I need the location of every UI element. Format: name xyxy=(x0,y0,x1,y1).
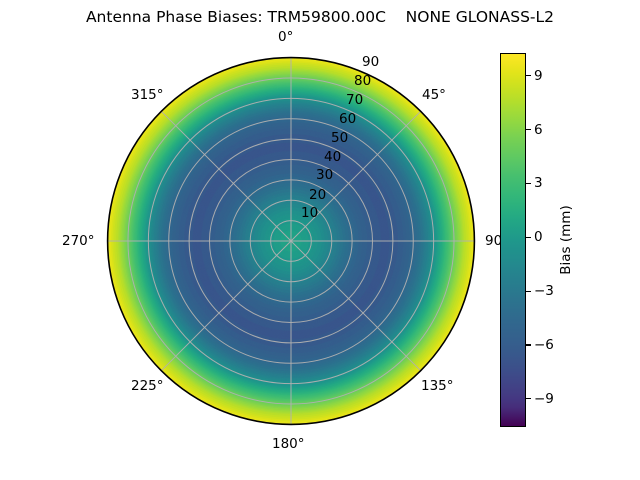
angular-tick-315: 315° xyxy=(131,88,164,102)
colorbar-ticklabel: 3 xyxy=(534,176,543,190)
radial-tick-60: 60 xyxy=(339,112,356,126)
colorbar-tickmark xyxy=(526,237,531,238)
radial-tick-80: 80 xyxy=(354,74,371,88)
colorbar-ticklabel: −6 xyxy=(534,338,554,352)
colorbar-ticklabel: −3 xyxy=(534,284,554,298)
polar-axes xyxy=(106,56,476,426)
radial-tick-20: 20 xyxy=(309,188,326,202)
colorbar: 9630−3−6−9 xyxy=(500,53,526,427)
colorbar-ticklabel: 6 xyxy=(534,123,543,137)
colorbar-tickmark xyxy=(526,183,531,184)
figure-canvas: Antenna Phase Biases: TRM59800.00C NONE … xyxy=(0,0,640,480)
colorbar-tickmark xyxy=(526,75,531,76)
colorbar-ticklabel: −9 xyxy=(534,392,554,406)
colorbar-tickmark xyxy=(526,291,531,292)
radial-tick-10: 10 xyxy=(301,206,318,220)
angular-tick-225: 225° xyxy=(131,379,164,393)
colorbar-tickmark xyxy=(526,129,531,130)
colorbar-tickmark xyxy=(526,398,531,399)
colorbar-ticklabel: 9 xyxy=(534,69,543,83)
angular-tick-180: 180° xyxy=(272,437,305,451)
colorbar-axis-label: Bias (mm) xyxy=(558,205,574,274)
colorbar-gradient xyxy=(500,53,526,427)
radial-tick-30: 30 xyxy=(316,168,333,182)
radial-tick-70: 70 xyxy=(346,93,363,107)
colorbar-ticklabel: 0 xyxy=(534,230,543,244)
angular-tick-45: 45° xyxy=(422,88,446,102)
radial-tick-50: 50 xyxy=(331,131,348,145)
radial-tick-40: 40 xyxy=(324,150,341,164)
angular-tick-135: 135° xyxy=(421,379,454,393)
angular-tick-270: 270° xyxy=(62,234,95,248)
angular-tick-0: 0° xyxy=(278,30,293,44)
radial-tick-90: 90 xyxy=(362,55,379,69)
figure-title: Antenna Phase Biases: TRM59800.00C NONE … xyxy=(0,8,640,26)
polar-plot-surface xyxy=(106,56,476,426)
colorbar-tickmark xyxy=(526,344,531,345)
